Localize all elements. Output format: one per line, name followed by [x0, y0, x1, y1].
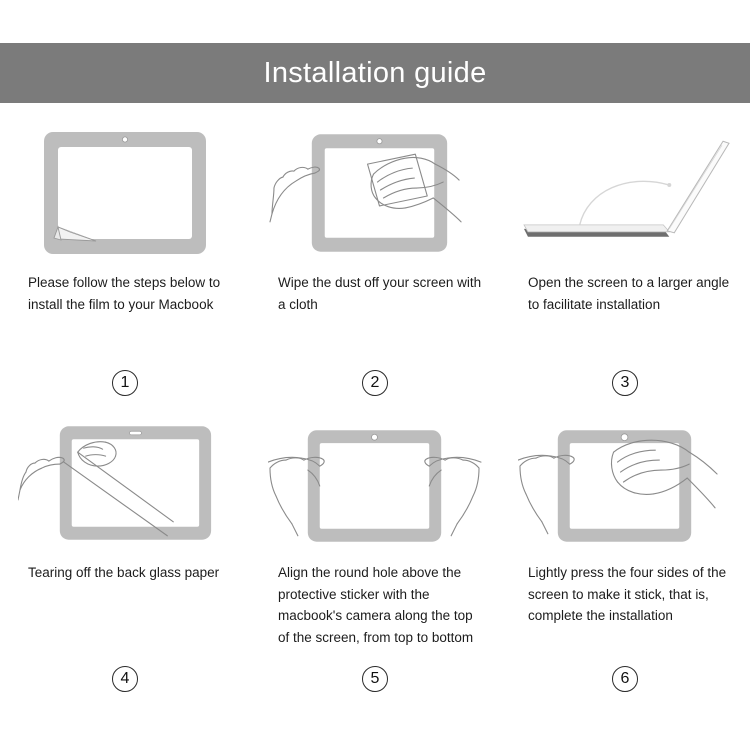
step-3-number-wrap: 3	[500, 370, 750, 396]
step-4-figure	[18, 408, 232, 558]
step-cell-5: Align the round hole above the protectiv…	[250, 408, 500, 698]
step-3-figure	[518, 118, 732, 268]
hand-wiping-screen-with-cloth-icon	[268, 126, 482, 261]
step-cell-1: Please follow the steps below to install…	[0, 118, 250, 408]
step-number-badge: 1	[112, 370, 138, 396]
step-cell-6: Lightly press the four sides of the scre…	[500, 408, 750, 698]
page-title: Installation guide	[263, 59, 486, 88]
two-hands-aligning-film-icon	[268, 418, 482, 548]
step-6-caption: Lightly press the four sides of the scre…	[518, 562, 732, 627]
step-number-badge: 4	[112, 666, 138, 692]
step-number-badge: 2	[362, 370, 388, 396]
step-number-badge: 5	[362, 666, 388, 692]
step-2-caption: Wipe the dust off your screen with a clo…	[268, 272, 482, 315]
step-number-badge: 6	[612, 666, 638, 692]
laptop-opening-angle-icon	[518, 133, 732, 253]
step-5-figure	[268, 408, 482, 558]
step-4-caption: Tearing off the back glass paper	[18, 562, 219, 584]
step-2-figure	[268, 118, 482, 268]
step-cell-2: Wipe the dust off your screen with a clo…	[250, 118, 500, 408]
step-3-caption: Open the screen to a larger angle to fac…	[518, 272, 732, 315]
steps-grid: Please follow the steps below to install…	[0, 118, 750, 698]
step-5-number-wrap: 5	[250, 666, 500, 692]
hands-tearing-back-paper-icon	[18, 418, 232, 548]
hand-pressing-screen-sides-icon	[518, 418, 732, 548]
step-5-caption: Align the round hole above the protectiv…	[268, 562, 482, 648]
step-1-figure	[18, 118, 232, 268]
tablet-with-peeling-film-corner-icon	[40, 128, 210, 258]
step-6-figure	[518, 408, 732, 558]
installation-guide-header: Installation guide	[0, 43, 750, 103]
step-1-number-wrap: 1	[0, 370, 250, 396]
step-2-number-wrap: 2	[250, 370, 500, 396]
step-4-number-wrap: 4	[0, 666, 250, 692]
step-cell-4: Tearing off the back glass paper 4	[0, 408, 250, 698]
step-6-number-wrap: 6	[500, 666, 750, 692]
step-1-caption: Please follow the steps below to install…	[18, 272, 232, 315]
step-cell-3: Open the screen to a larger angle to fac…	[500, 118, 750, 408]
step-number-badge: 3	[612, 370, 638, 396]
